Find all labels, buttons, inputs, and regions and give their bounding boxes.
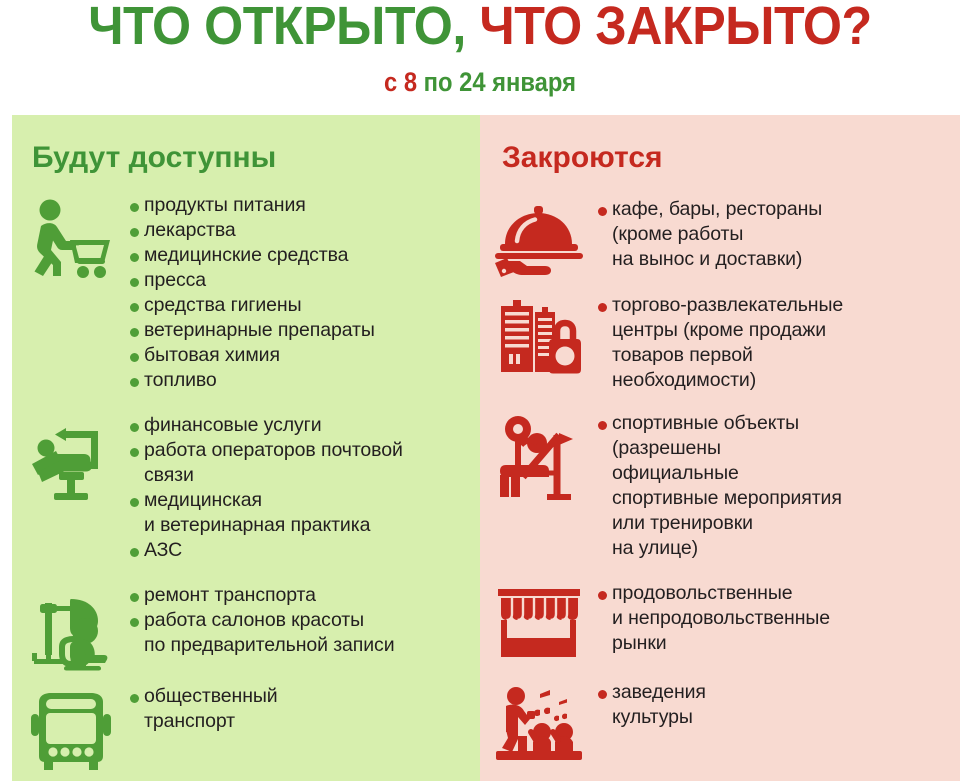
list-item: пресса <box>130 268 472 293</box>
list-item-label: продовольственные и непродовольственные … <box>612 581 830 656</box>
open-group-beauty: ремонт транспорта работа салонов красоты… <box>12 583 480 671</box>
closed-group-sports-items: спортивные объекты (разрешены официальны… <box>598 411 960 561</box>
list-item-label: кафе, бары, рестораны (кроме работы на в… <box>612 197 822 272</box>
list-item: заведения культуры <box>598 680 952 730</box>
list-item-label: пресса <box>144 268 206 293</box>
open-group-services: финансовые услуги работа операторов почт… <box>12 413 480 563</box>
culture-performance-icon <box>480 680 598 762</box>
list-item-label: медицинские средства <box>144 243 348 268</box>
list-item-label: медицинская и ветеринарная практика <box>144 488 370 538</box>
serving-tray-icon <box>480 197 598 279</box>
closed-group-markets: продовольственные и непродовольственные … <box>480 581 960 661</box>
list-item-label: спортивные объекты (разрешены официальны… <box>612 411 842 561</box>
closed-panel-groups: кафе, бары, рестораны (кроме работы на в… <box>480 191 960 762</box>
market-stall-icon <box>480 581 598 661</box>
list-item-label: ветеринарные препараты <box>144 318 375 343</box>
panels-container: Будут доступны <box>12 115 960 781</box>
list-item: топливо <box>130 368 472 393</box>
bullet-icon <box>130 228 139 237</box>
bullet-icon <box>130 498 139 507</box>
bullet-icon <box>130 618 139 627</box>
bullet-icon <box>598 421 607 430</box>
bullet-icon <box>130 278 139 287</box>
list-item: средства гигиены <box>130 293 472 318</box>
closed-group-culture: заведения культуры <box>480 680 960 762</box>
bullet-icon <box>598 303 607 312</box>
bullet-icon <box>130 593 139 602</box>
open-group-services-items: финансовые услуги работа операторов почт… <box>130 413 480 563</box>
list-item-label: финансовые услуги <box>144 413 322 438</box>
bench-press-icon <box>480 411 598 501</box>
list-item-label: общественный транспорт <box>144 684 278 734</box>
open-group-groceries: продукты питания лекарства медицинские с… <box>12 193 480 393</box>
closed-group-malls: торгово-развлекательные центры (кроме пр… <box>480 293 960 393</box>
infographic-page: ЧТО ОТКРЫТО, ЧТО ЗАКРЫТО? с 8 по 24 янва… <box>0 0 960 781</box>
list-item-label: заведения культуры <box>612 680 706 730</box>
list-item: ветеринарные препараты <box>130 318 472 343</box>
list-item: общественный транспорт <box>130 684 472 734</box>
open-panel-groups: продукты питания лекарства медицинские с… <box>12 191 480 772</box>
list-item: АЗС <box>130 538 472 563</box>
bullet-icon <box>598 690 607 699</box>
list-item-label: продукты питания <box>144 193 306 218</box>
bullet-icon <box>130 328 139 337</box>
bullet-icon <box>130 378 139 387</box>
bullet-icon <box>130 203 139 212</box>
closed-group-restaurants: кафе, бары, рестораны (кроме работы на в… <box>480 197 960 279</box>
list-item: продукты питания <box>130 193 472 218</box>
closed-group-malls-items: торгово-развлекательные центры (кроме пр… <box>598 293 960 393</box>
bullet-icon <box>598 207 607 216</box>
list-item: ремонт транспорта <box>130 583 472 608</box>
bullet-icon <box>130 303 139 312</box>
bullet-icon <box>130 548 139 557</box>
bullet-icon <box>130 253 139 262</box>
closed-group-sports: спортивные объекты (разрешены официальны… <box>480 411 960 561</box>
list-item: лекарства <box>130 218 472 243</box>
page-title-closed-part: ЧТО ЗАКРЫТО? <box>479 0 871 56</box>
closed-group-culture-items: заведения культуры <box>598 680 960 730</box>
open-panel: Будут доступны <box>12 115 480 781</box>
closed-panel: Закроются <box>480 115 960 781</box>
list-item-label: работа операторов почтовой связи <box>144 438 403 488</box>
open-group-beauty-items: ремонт транспорта работа салонов красоты… <box>130 583 480 658</box>
list-item: бытовая химия <box>130 343 472 368</box>
list-item: работа операторов почтовой связи <box>130 438 472 488</box>
date-range-end: по 24 января <box>424 67 576 97</box>
bullet-icon <box>130 353 139 362</box>
header: ЧТО ОТКРЫТО, ЧТО ЗАКРЫТО? с 8 по 24 янва… <box>0 0 960 115</box>
shopping-mall-icon <box>480 293 598 377</box>
date-range-subtitle: с 8 по 24 января <box>58 66 903 98</box>
medical-chair-icon <box>12 413 130 503</box>
closed-panel-heading: Закроются <box>502 141 663 175</box>
open-group-transport: общественный транспорт <box>12 684 480 772</box>
list-item: медицинские средства <box>130 243 472 268</box>
list-item-label: работа салонов красоты по предварительно… <box>144 608 395 658</box>
list-item-label: лекарства <box>144 218 236 243</box>
closed-group-restaurants-items: кафе, бары, рестораны (кроме работы на в… <box>598 197 960 272</box>
bullet-icon <box>130 423 139 432</box>
open-panel-heading: Будут доступны <box>32 141 276 175</box>
date-range-start: с 8 <box>384 67 417 97</box>
list-item: торгово-развлекательные центры (кроме пр… <box>598 293 952 393</box>
list-item-label: топливо <box>144 368 217 393</box>
list-item-label: бытовая химия <box>144 343 280 368</box>
open-group-groceries-items: продукты питания лекарства медицинские с… <box>130 193 480 393</box>
list-item-label: торгово-развлекательные центры (кроме пр… <box>612 293 843 393</box>
closed-group-markets-items: продовольственные и непродовольственные … <box>598 581 960 656</box>
list-item-label: средства гигиены <box>144 293 302 318</box>
page-title-open-part: ЧТО ОТКРЫТО, <box>88 0 466 56</box>
list-item: кафе, бары, рестораны (кроме работы на в… <box>598 197 952 272</box>
list-item: работа салонов красоты по предварительно… <box>130 608 472 658</box>
list-item-label: АЗС <box>144 538 182 563</box>
list-item: финансовые услуги <box>130 413 472 438</box>
list-item-label: ремонт транспорта <box>144 583 316 608</box>
bus-icon <box>12 684 130 772</box>
beauty-salon-chair-icon <box>12 583 130 671</box>
shopper-with-cart-icon <box>12 193 130 281</box>
page-title: ЧТО ОТКРЫТО, ЧТО ЗАКРЫТО? <box>34 0 927 56</box>
list-item: медицинская и ветеринарная практика <box>130 488 472 538</box>
list-item: спортивные объекты (разрешены официальны… <box>598 411 952 561</box>
open-group-transport-items: общественный транспорт <box>130 684 480 734</box>
list-item: продовольственные и непродовольственные … <box>598 581 952 656</box>
bullet-icon <box>130 694 139 703</box>
bullet-icon <box>130 448 139 457</box>
bullet-icon <box>598 591 607 600</box>
